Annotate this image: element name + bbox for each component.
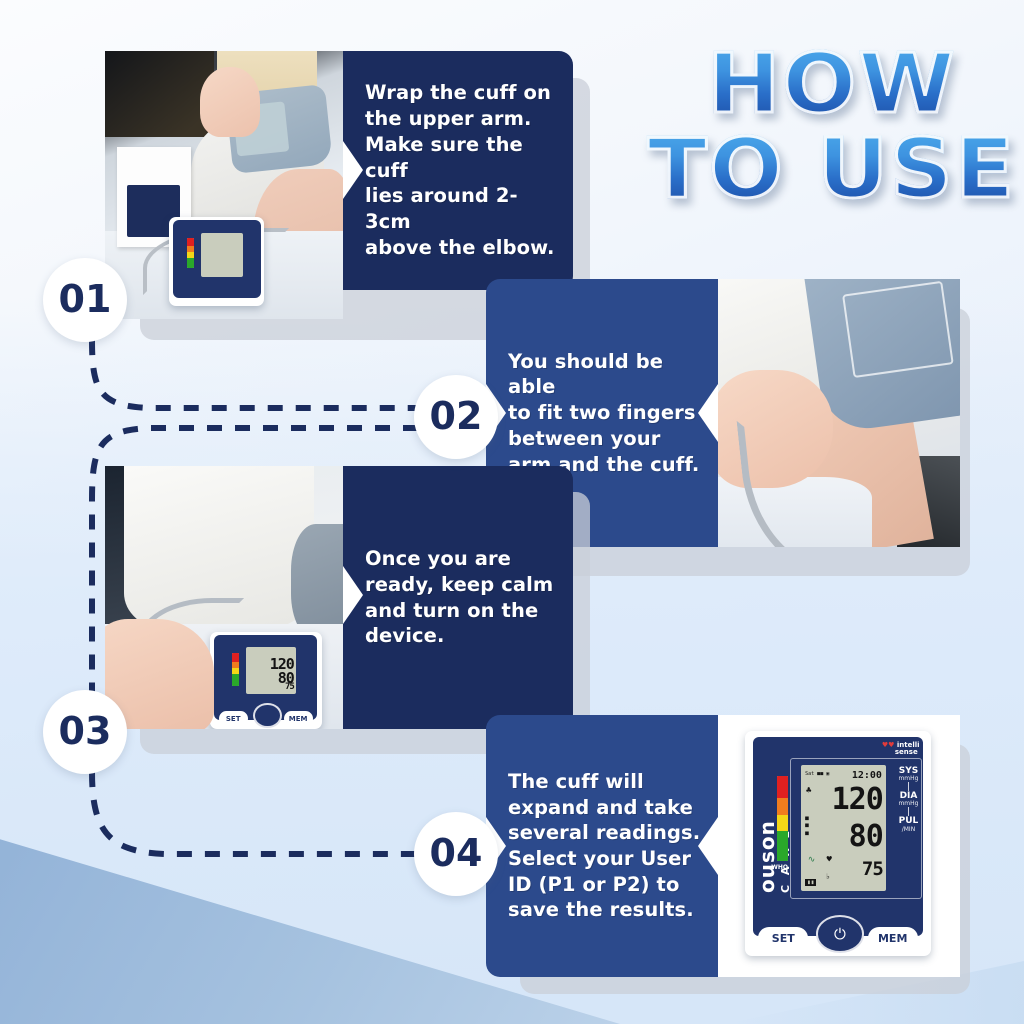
lcd-blocks-icon: ■■■ xyxy=(805,815,809,838)
who-indicator-bar xyxy=(777,776,788,862)
step-number-02: 02 xyxy=(430,394,483,438)
lcd-battery-icon: ▮▮ xyxy=(805,879,816,886)
intelli-sense-logo: ♥♥ intelli sense xyxy=(882,742,920,756)
lcd-bell-icon: ♭ xyxy=(826,872,831,881)
lcd-pulse: 75 xyxy=(862,858,883,880)
step-number-04: 04 xyxy=(430,831,483,875)
step-bubble-02[interactable]: 02 xyxy=(414,375,498,459)
step-bubble-03[interactable]: 03 xyxy=(43,690,127,774)
step-3-photo: 120 80 75 SET MEM xyxy=(105,466,343,729)
step-3-text-panel: Once you are ready, keep calm and turn o… xyxy=(343,466,573,729)
infographic-root: HOW TO USE Wrap the cuff on the upper ar… xyxy=(0,0,1024,1024)
step-3-device-thumb: 120 80 75 SET MEM xyxy=(210,632,322,729)
who-label: WHO xyxy=(771,864,788,871)
label-pul-unit: /MIN xyxy=(888,827,929,833)
step-number-01: 01 xyxy=(59,277,112,321)
lcd-heart-icon: ♥ xyxy=(826,855,831,865)
step-1-text: Wrap the cuff on the upper arm. Make sur… xyxy=(343,80,573,260)
device-front-view: ouson C A R E ♥♥ intelli sense WHO 12:00… xyxy=(745,731,930,956)
device-lcd-screen: 12:00 Sat ■■ ▣ ♣ 120 80 75 ∿ ♥ ♭ ■■■ ▮▮ xyxy=(801,765,886,891)
step-3-text: Once you are ready, keep calm and turn o… xyxy=(343,546,567,649)
power-button[interactable]: ⏻ xyxy=(816,915,865,953)
step-bubble-04[interactable]: 04 xyxy=(414,812,498,896)
step-bubble-01[interactable]: 01 xyxy=(43,258,127,342)
step-4-photo: ouson C A R E ♥♥ intelli sense WHO 12:00… xyxy=(716,715,960,977)
step-1-text-panel: Wrap the cuff on the upper arm. Make sur… xyxy=(343,51,573,290)
lcd-wave-icon: ∿ xyxy=(808,855,816,865)
step-1-photo xyxy=(105,51,343,319)
mem-button[interactable]: MEM xyxy=(868,927,918,950)
lcd-clover-icon: ♣ xyxy=(806,786,811,796)
power-icon: ⏻ xyxy=(834,925,846,943)
step-1-device-thumb xyxy=(169,217,264,305)
title-line-1: HOW xyxy=(624,46,1024,123)
step-4-text: The cuff will expand and take several re… xyxy=(486,769,712,923)
lcd-time: 12:00 xyxy=(852,770,882,781)
page-title: HOW TO USE xyxy=(636,46,1024,208)
lcd-date-icons: Sat ■■ ▣ xyxy=(805,771,829,777)
label-pul: PUL xyxy=(899,816,919,826)
step-4-text-panel: The cuff will expand and take several re… xyxy=(486,715,718,977)
set-button[interactable]: SET xyxy=(758,927,808,950)
device-side-labels: SYS mmHg | DIA mmHg | PUL /MIN xyxy=(888,767,929,833)
heart-icon: ♥♥ xyxy=(882,741,895,749)
title-line-2: TO USE xyxy=(624,131,1024,208)
step-2-text: You should be able to fit two fingers be… xyxy=(486,349,718,478)
lcd-systolic: 120 xyxy=(832,782,883,817)
lcd-diastolic: 80 xyxy=(849,819,883,854)
step-number-03: 03 xyxy=(59,709,112,753)
step-2-photo xyxy=(716,279,960,547)
